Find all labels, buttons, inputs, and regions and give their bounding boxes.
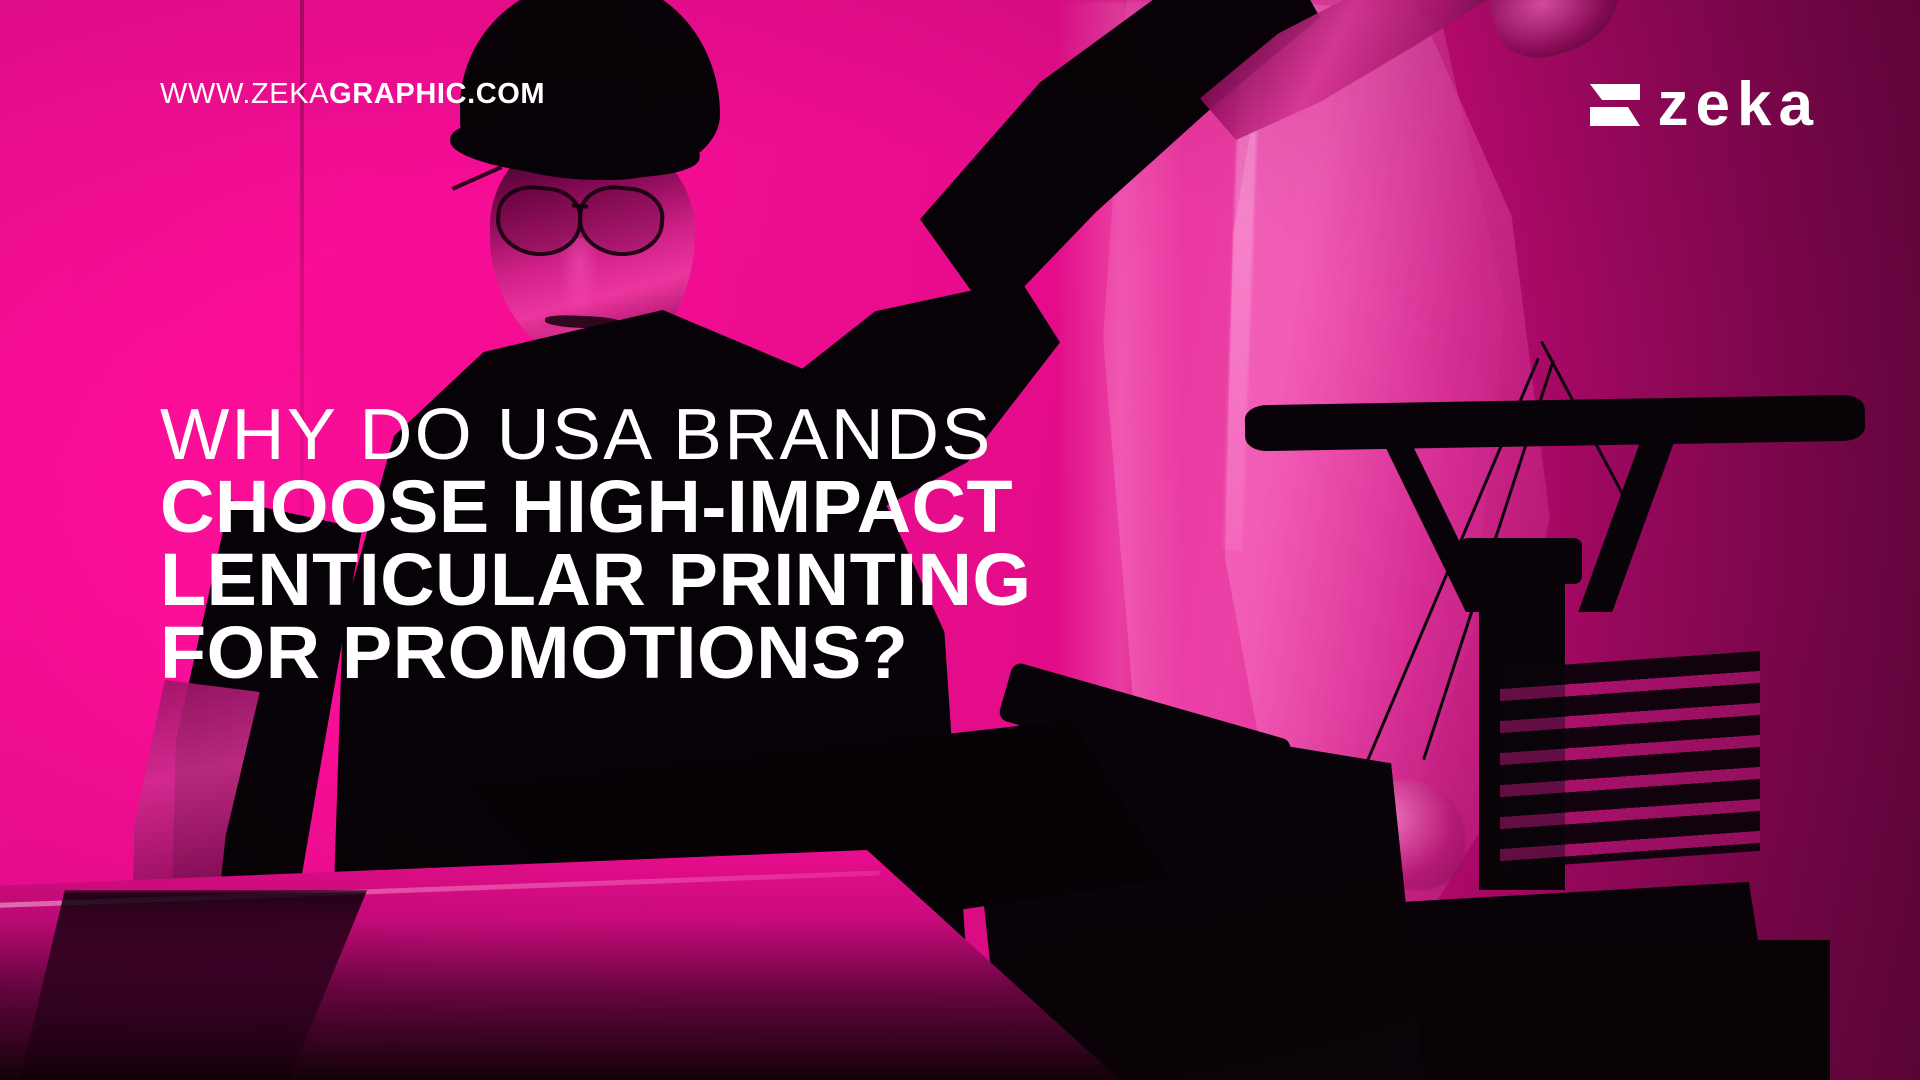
url-prefix: WWW. [160,78,251,110]
url-name: ZEKA [251,78,329,110]
zeka-logo[interactable]: zeka [1588,74,1820,136]
headline-line-2: CHOOSE HIGH-IMPACT [160,471,1032,544]
url-suffix: .COM [467,78,545,110]
headline-line-3: LENTICULAR PRINTING [160,544,1032,617]
headline-line-1: WHY DO USA BRANDS [160,400,1032,471]
page-title: WHY DO USA BRANDS CHOOSE HIGH-IMPACT LEN… [160,400,1014,690]
headline-line-4: FOR PROMOTIONS? [160,617,1032,690]
photo-press-slats [1500,651,1760,869]
blog-banner: WWW.ZEKAGRAPHIC.COM zeka WHY DO USA BRAN… [0,0,1920,1080]
url-brand-bold: GRAPHIC [329,78,467,110]
zeka-diagonal-mark-icon [1588,81,1642,129]
website-url[interactable]: WWW.ZEKAGRAPHIC.COM [160,78,545,111]
photo-operator-glasses-temple [452,165,503,191]
zeka-wordmark: zeka [1658,74,1820,136]
